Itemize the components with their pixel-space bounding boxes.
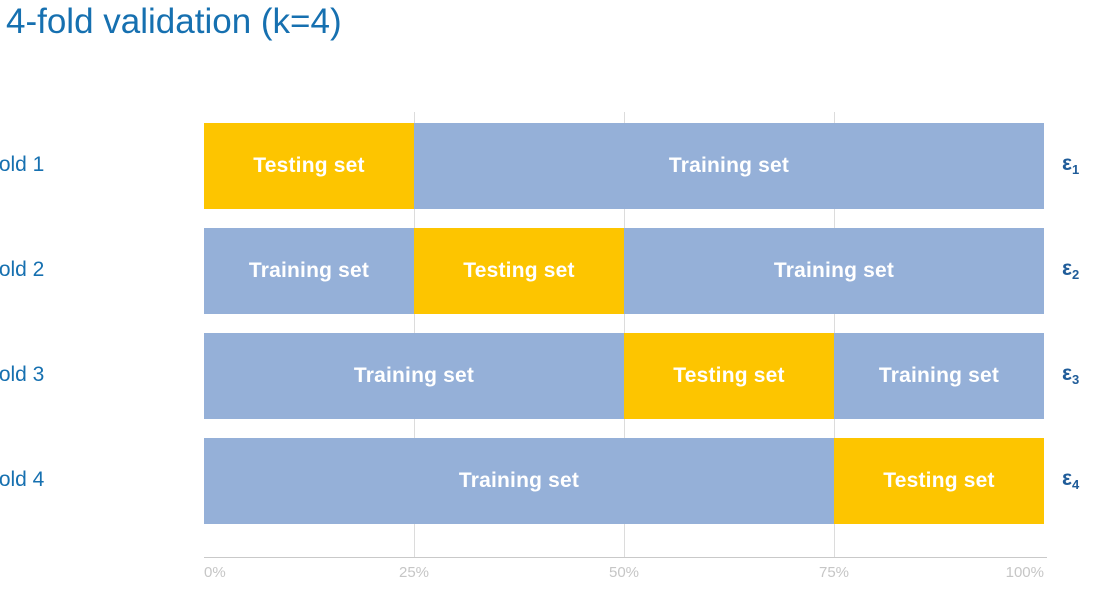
epsilon-symbol: ε [1062,257,1072,280]
page-title: 4-fold validation (k=4) [6,2,342,42]
epsilon-symbol: ε [1062,362,1072,385]
segment-label: Training set [249,259,369,283]
segment-label: Training set [879,364,999,388]
error-label-epsilon-2: ε2 [1062,257,1079,281]
x-tick-label-50pct: 50% [609,564,639,581]
segment-label: Training set [774,259,894,283]
error-label-epsilon-4: ε4 [1062,467,1079,491]
segment-testing-set[interactable]: Testing set [414,228,624,314]
epsilon-subscript: 1 [1072,162,1079,177]
x-tick-label-0pct: 0% [204,564,226,581]
segment-label: Training set [669,154,789,178]
fold-label-2: Fold 2 [0,258,96,282]
fold-label-3: Fold 3 [0,363,96,387]
epsilon-subscript: 2 [1072,267,1079,282]
fold-label-1: Fold 1 [0,153,96,177]
segment-training-set[interactable]: Training set [204,438,834,524]
fold-row: Testing setTraining set [204,123,1044,209]
error-label-epsilon-1: ε1 [1062,152,1079,176]
segment-testing-set[interactable]: Testing set [834,438,1044,524]
segment-training-set[interactable]: Training set [624,228,1044,314]
segment-label: Training set [354,364,474,388]
chart-plot-area: Testing setTraining setTraining setTesti… [204,112,1044,558]
segment-training-set[interactable]: Training set [834,333,1044,419]
segment-training-set[interactable]: Training set [414,123,1044,209]
epsilon-subscript: 4 [1072,477,1079,492]
segment-testing-set[interactable]: Testing set [624,333,834,419]
epsilon-subscript: 3 [1072,372,1079,387]
error-label-epsilon-3: ε3 [1062,362,1079,386]
x-tick-label-75pct: 75% [819,564,849,581]
fold-label-4: Fold 4 [0,468,96,492]
segment-label: Training set [459,469,579,493]
segment-label: Testing set [673,364,785,388]
epsilon-symbol: ε [1062,467,1072,490]
segment-label: Testing set [253,154,365,178]
segment-label: Testing set [463,259,575,283]
fold-row: Training setTesting setTraining set [204,333,1044,419]
epsilon-symbol: ε [1062,152,1072,175]
x-tick-label-100pct: 100% [1006,564,1044,581]
fold-row: Training setTesting setTraining set [204,228,1044,314]
x-axis-line [204,557,1047,558]
fold-row: Training setTesting set [204,438,1044,524]
segment-training-set[interactable]: Training set [204,333,624,419]
segment-testing-set[interactable]: Testing set [204,123,414,209]
segment-training-set[interactable]: Training set [204,228,414,314]
x-tick-label-25pct: 25% [399,564,429,581]
segment-label: Testing set [883,469,995,493]
